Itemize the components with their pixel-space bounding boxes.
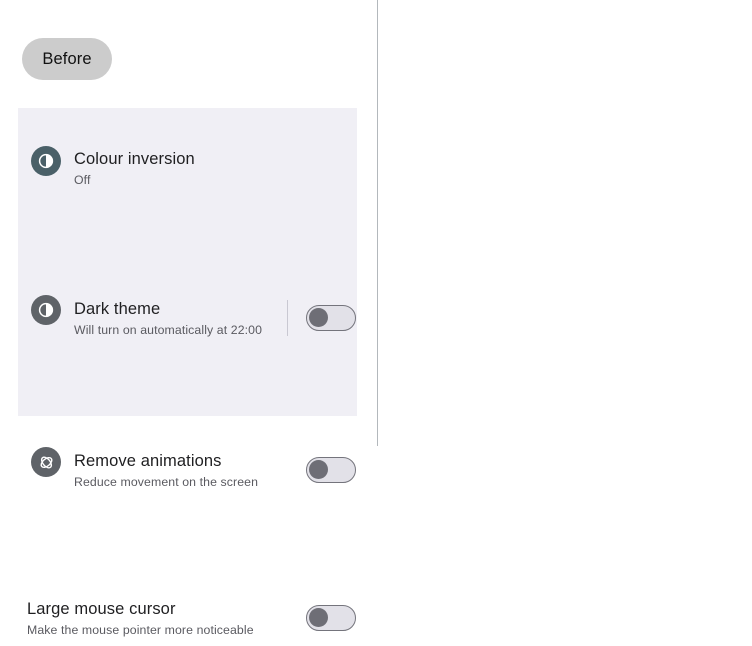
setting-title: Large mouse cursor [27, 599, 254, 619]
toggle-knob [309, 608, 328, 627]
setting-row-dark-theme[interactable]: Dark theme Will turn on automatically at… [18, 198, 357, 274]
setting-row-large-mouse-cursor[interactable]: Large mouse cursor Make the mouse pointe… [18, 348, 357, 422]
setting-row-remove-animations[interactable]: Remove animations Reduce movement on the… [18, 274, 357, 348]
contrast-circle-icon [31, 146, 61, 176]
setting-subtitle: Make the mouse pointer more noticeable [27, 622, 254, 638]
toggle-knob [309, 460, 328, 479]
remove-animations-toggle[interactable] [306, 457, 356, 483]
setting-title: Remove animations [74, 451, 258, 471]
setting-title: Colour inversion [74, 149, 195, 169]
large-mouse-cursor-toggle[interactable] [306, 605, 356, 631]
before-panel: Before Colour inversion Off [0, 0, 377, 446]
setting-subtitle: Off [74, 172, 195, 188]
animation-rings-icon [31, 447, 61, 477]
after-panel: After Colour inversion Off [378, 0, 752, 446]
before-badge-label: Before [42, 50, 91, 69]
comparison-stage: Before Colour inversion Off [0, 0, 752, 446]
setting-row-colour-inversion[interactable]: Colour inversion Off [18, 124, 357, 198]
before-badge: Before [22, 38, 112, 80]
setting-subtitle: Reduce movement on the screen [74, 474, 258, 490]
before-settings-card: Colour inversion Off Dark theme Will tur… [18, 108, 357, 416]
